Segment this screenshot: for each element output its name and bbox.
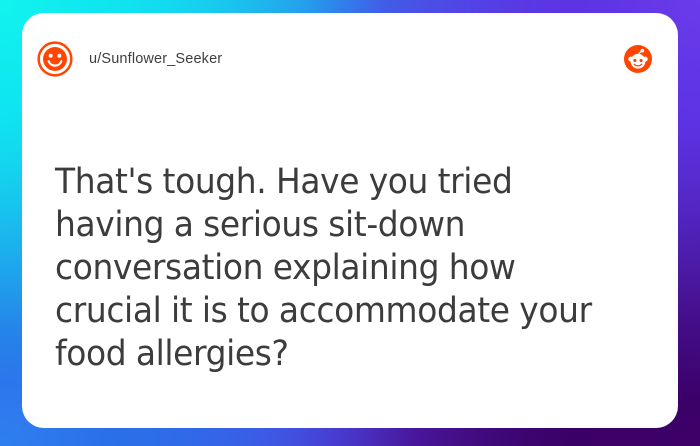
username-label[interactable]: u/Sunflower_Seeker [89,51,222,67]
reddit-snoo-logo-icon[interactable] [624,45,652,73]
post-header: u/Sunflower_Seeker [22,13,678,105]
post-body-text: That's tough. Have you tried having a se… [55,161,619,376]
reddit-post-card: u/Sunflower_Seeker That's tough. Have yo… [22,13,678,428]
smiley-face-avatar-icon[interactable] [36,40,74,78]
